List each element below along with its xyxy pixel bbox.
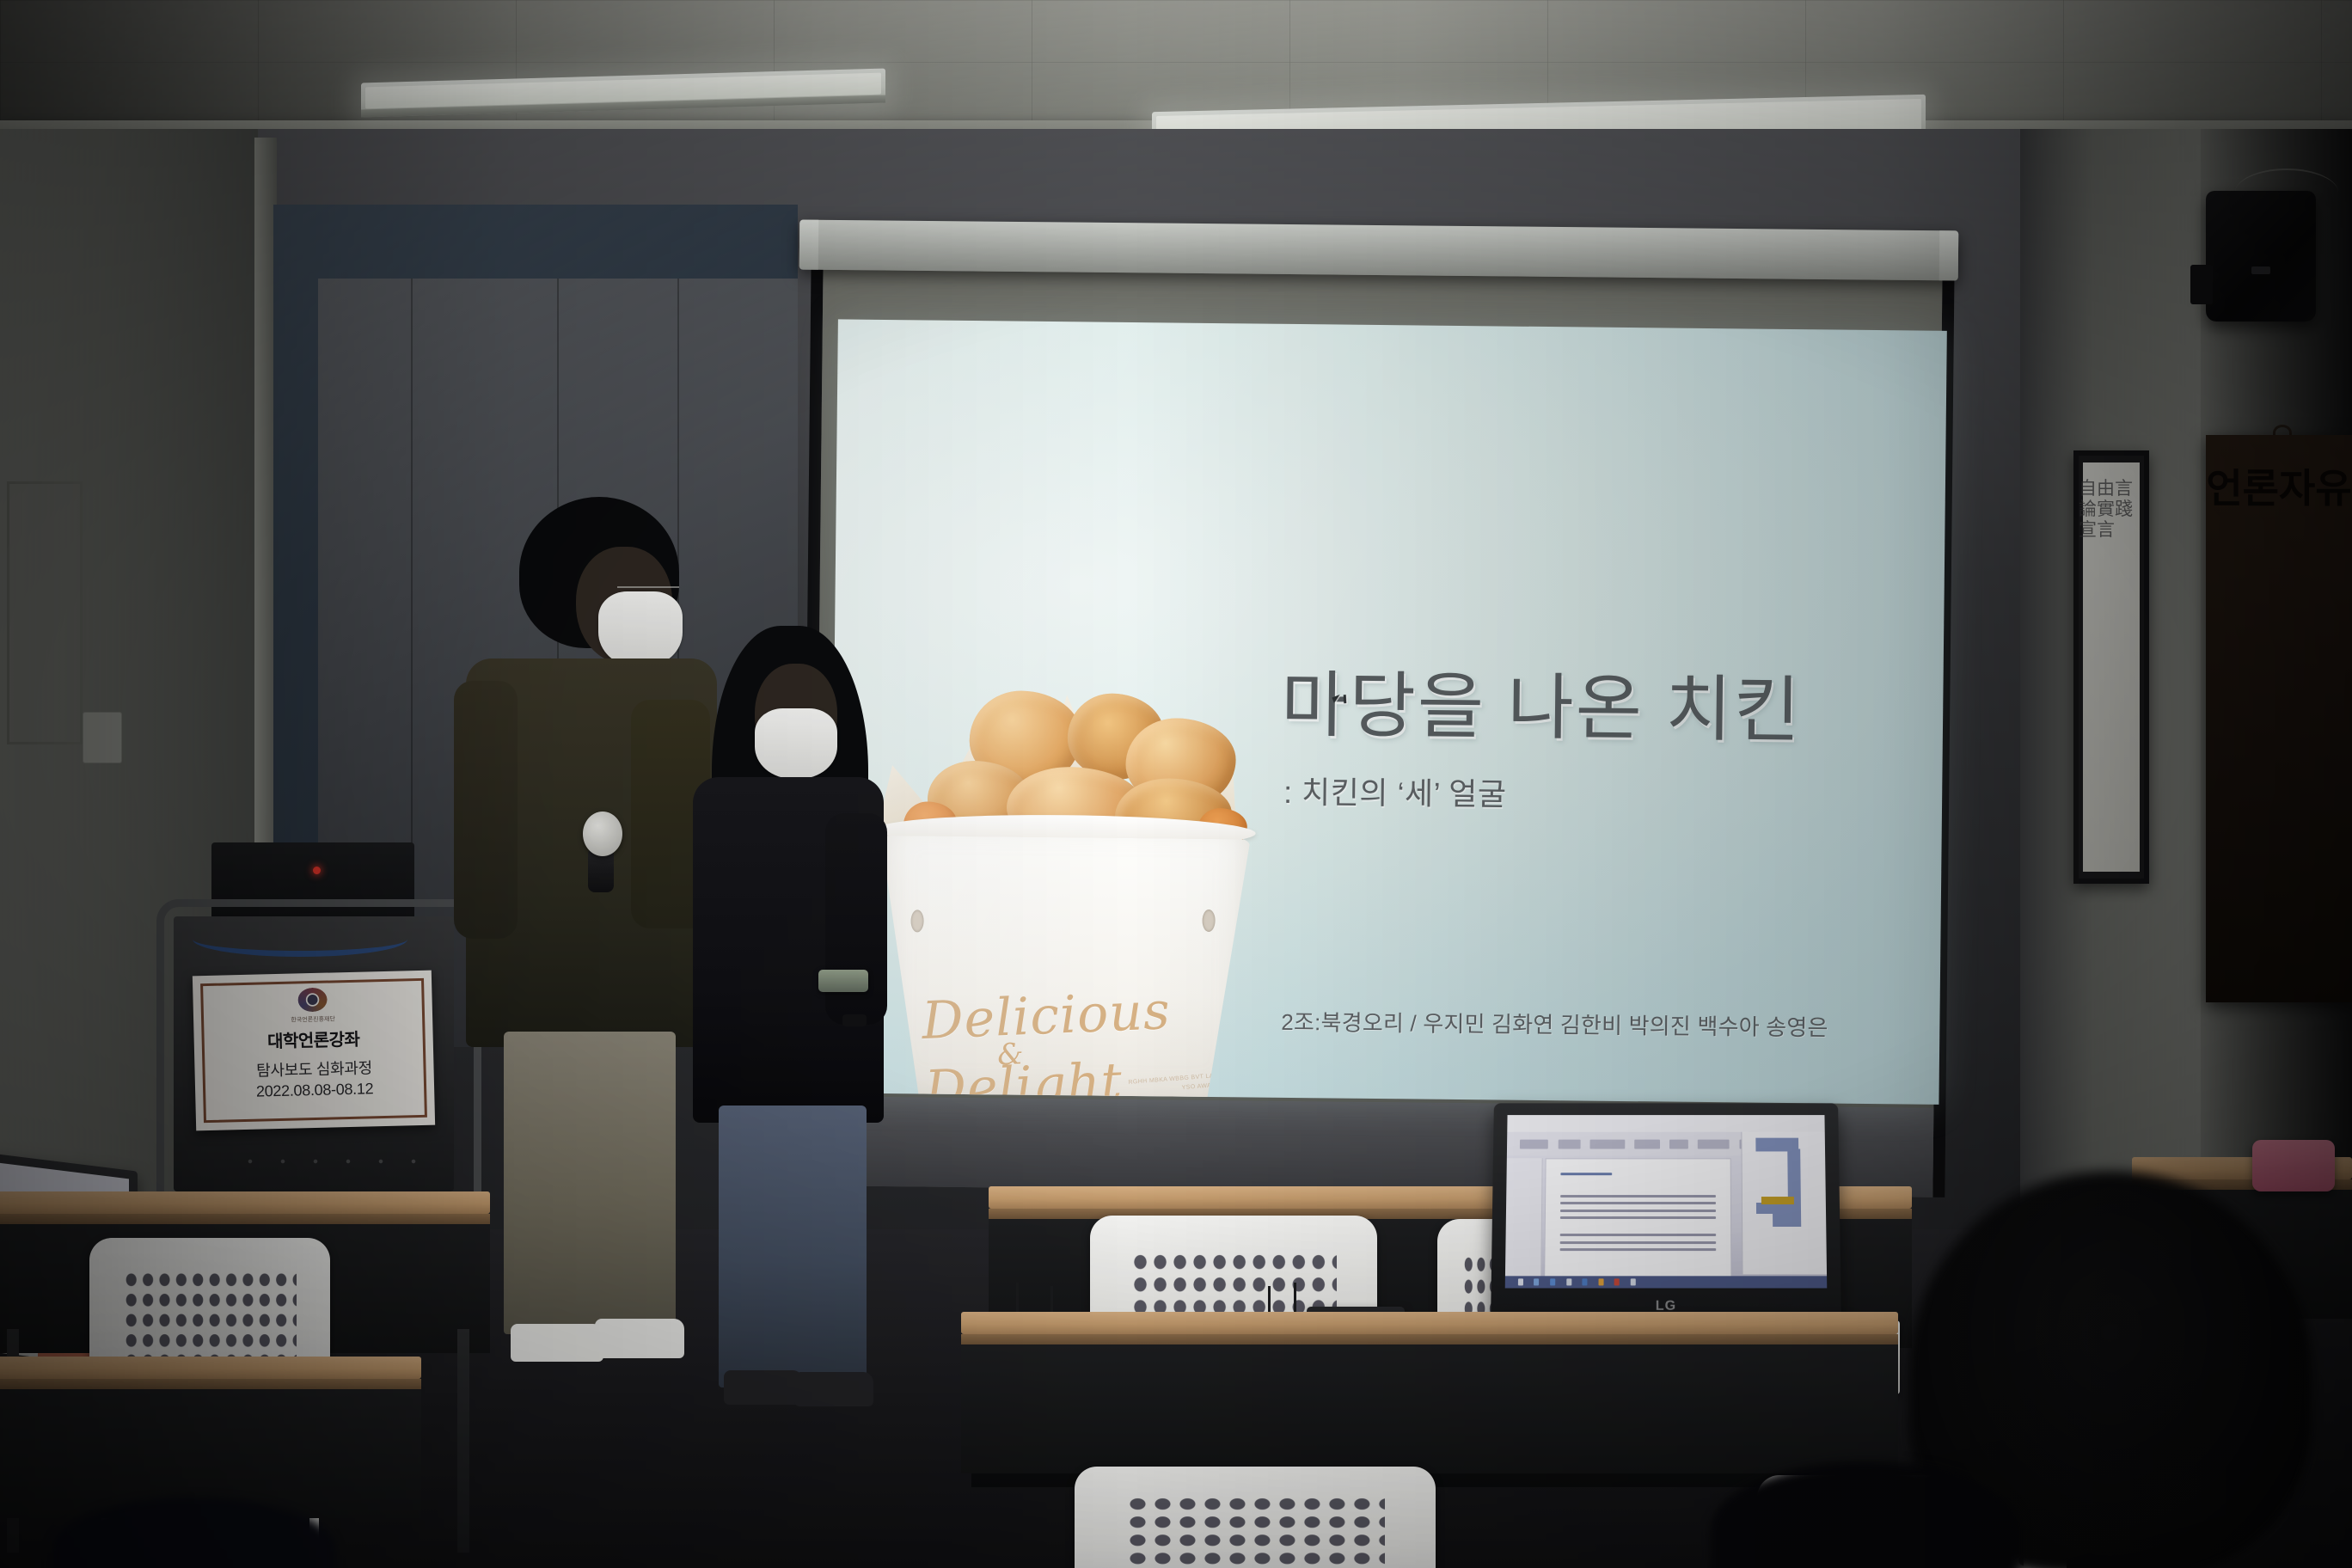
organization-logo-icon bbox=[291, 984, 334, 1014]
right-arm bbox=[825, 813, 887, 1025]
projected-slide: Delicious & Delight RGHH MBKA WBBG BVT L… bbox=[830, 319, 1946, 1104]
bucket-handle-hole bbox=[1202, 910, 1215, 932]
chair-front-center[interactable] bbox=[1075, 1467, 1436, 1568]
desk-edge bbox=[961, 1334, 1898, 1344]
projection-screen: Delicious & Delight RGHH MBKA WBBG BVT L… bbox=[801, 252, 1954, 1197]
slide-title: 마당을 나온 치킨 bbox=[1281, 666, 1935, 751]
speaker-bracket bbox=[2190, 265, 2213, 304]
app-titlebar bbox=[1507, 1115, 1824, 1133]
calligraphy-text: 自由言論實踐宣言 bbox=[2079, 478, 2144, 856]
face-mask bbox=[755, 708, 837, 779]
chair-backrest bbox=[1075, 1467, 1436, 1568]
slide-credits: 2조:북경오리 / 우지민 김화연 김한비 박의진 백수아 송영은 bbox=[1281, 1005, 1917, 1044]
wristwatch bbox=[842, 1014, 867, 1026]
handheld-microphone bbox=[583, 812, 622, 856]
fried-chicken-bucket-photo: Delicious & Delight RGHH MBKA WBBG BVT L… bbox=[838, 585, 1290, 1104]
sign-title: 대학언론강좌 bbox=[207, 1024, 420, 1054]
chair-perforations bbox=[123, 1270, 297, 1363]
desk-top bbox=[0, 1357, 421, 1379]
app-document-page bbox=[1544, 1158, 1732, 1281]
desk-front-panel bbox=[961, 1344, 1898, 1473]
av-equipment-cart: 한국언론진흥재단 대학언론강좌 탐사보도 심화과정 2022.08.08-08.… bbox=[144, 842, 480, 1195]
sign-subtitle: 탐사보도 심화과정 bbox=[208, 1055, 420, 1082]
course-sign: 한국언론진흥재단 대학언론강좌 탐사보도 심화과정 2022.08.08-08.… bbox=[193, 971, 435, 1131]
wall-notice-frame bbox=[7, 481, 83, 744]
app-side-panel bbox=[1742, 1132, 1827, 1274]
housing-end-cap-right bbox=[1939, 230, 1959, 280]
face-mask bbox=[598, 591, 683, 667]
blue-lanyard bbox=[193, 922, 407, 957]
paper-bucket: Delicious & Delight RGHH MBKA WBBG BVT L… bbox=[878, 836, 1250, 1105]
shoe-right bbox=[595, 1319, 684, 1358]
eyeglasses bbox=[617, 586, 679, 588]
desk-edge bbox=[0, 1214, 490, 1224]
wall-speaker bbox=[2206, 191, 2316, 322]
chair-perforations bbox=[1125, 1495, 1385, 1568]
plaque-text: 언론자유 bbox=[2206, 464, 2352, 514]
desk-leg bbox=[457, 1329, 469, 1553]
laptop-lid: LG bbox=[1491, 1103, 1841, 1320]
wooden-plaque: 언론자유 bbox=[2206, 435, 2352, 1002]
classroom-photo-scene: 自由言論實踐宣言 언론자유 bbox=[0, 0, 2352, 1568]
shoe-left bbox=[511, 1324, 603, 1362]
presenter-right bbox=[688, 626, 903, 1391]
framed-calligraphy: 自由言論實踐宣言 bbox=[2073, 450, 2149, 884]
desk-top bbox=[961, 1312, 1898, 1334]
shoe-right bbox=[794, 1372, 873, 1406]
left-arm bbox=[454, 681, 518, 939]
desk-row-front-center bbox=[961, 1312, 1898, 1484]
power-led-indicator bbox=[313, 867, 321, 874]
app-taskbar bbox=[1505, 1276, 1828, 1288]
trousers bbox=[504, 1032, 676, 1334]
pink-pencil-case bbox=[2252, 1140, 2335, 1191]
laptop-screen[interactable] bbox=[1505, 1115, 1828, 1288]
housing-end-cap-left bbox=[799, 220, 819, 270]
speaker-badge bbox=[2251, 266, 2270, 274]
sign-content: 한국언론진흥재단 대학언론강좌 탐사보도 심화과정 2022.08.08-08.… bbox=[206, 983, 420, 1102]
slide-subtitle: : 치킨의 ‘세’ 얼굴 bbox=[1283, 768, 1886, 818]
jeans bbox=[719, 1106, 867, 1387]
desk-top bbox=[0, 1191, 490, 1214]
desk-edge bbox=[0, 1379, 421, 1389]
script-line-1: Delicious bbox=[921, 981, 1172, 1051]
wall-outlet bbox=[83, 712, 122, 763]
app-sidebar bbox=[1505, 1158, 1543, 1281]
bucket-handle-hole bbox=[910, 910, 923, 932]
smartphone bbox=[818, 970, 868, 992]
shoe-left bbox=[724, 1370, 803, 1405]
